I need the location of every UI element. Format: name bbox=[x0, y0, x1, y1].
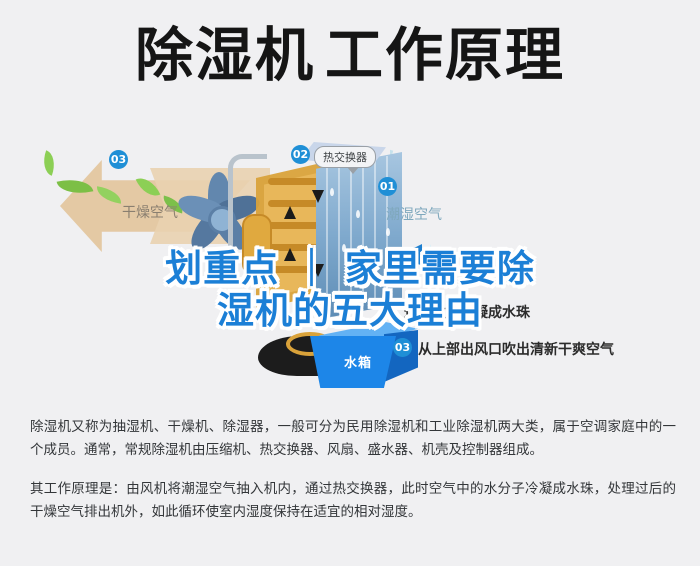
marker-badge-02: 02 bbox=[291, 145, 310, 164]
title-container: 除湿机工作原理 bbox=[135, 24, 565, 86]
fin-line bbox=[326, 166, 328, 306]
fin-line bbox=[362, 160, 364, 306]
intake-air-arrow-tail bbox=[418, 251, 448, 259]
title-part-two: 工作原理 bbox=[325, 21, 565, 89]
marker-label-dry-air: 干燥空气 bbox=[122, 202, 178, 222]
flow-arrow-up-icon bbox=[284, 248, 296, 261]
page-title: 除湿机工作原理 bbox=[0, 24, 700, 86]
body-paragraph-2: 其工作原理是：由风机将潮湿空气抽入机内，通过热交换器，此时空气中的水分子冷凝成水… bbox=[30, 478, 676, 524]
receiver-cylinder-icon bbox=[242, 214, 272, 276]
page-root: 除湿机工作原理 bbox=[0, 0, 700, 566]
body-paragraph-1: 除湿机又称为抽湿机、干燥机、除湿器，一般可分为民用除湿机和工业除湿机两大类，属于… bbox=[30, 416, 676, 462]
flow-arrow-down-icon bbox=[312, 264, 324, 277]
condensation-droplet bbox=[370, 264, 374, 272]
marker-badge-03: 03 bbox=[109, 150, 128, 169]
condensation-droplet bbox=[356, 210, 360, 218]
title-part-one: 除湿机 bbox=[135, 21, 315, 89]
dehumidifier-diagram: 水箱 03 干燥空气 02 热交换器 01 潮湿空气 02 过蒸发器冷凝成水珠 … bbox=[0, 120, 700, 410]
marker-label-humid-air: 潮湿空气 bbox=[386, 204, 442, 224]
coil-tube bbox=[268, 222, 320, 229]
flow-arrow-down-icon bbox=[312, 190, 324, 203]
condensation-droplet bbox=[386, 228, 390, 236]
fin-line bbox=[374, 158, 376, 306]
flow-arrow-up-icon bbox=[284, 206, 296, 219]
condensation-droplet bbox=[342, 244, 346, 252]
water-tank-label: 水箱 bbox=[328, 352, 388, 371]
leaf-icon bbox=[39, 150, 60, 175]
humid-air-swoosh-secondary-icon bbox=[430, 150, 640, 270]
water-tank: 水箱 bbox=[310, 322, 420, 392]
marker-label-heat-exchanger: 热交换器 bbox=[314, 146, 376, 168]
caption-text-02: 过蒸发器冷凝成水珠 bbox=[404, 302, 530, 322]
fin-line bbox=[350, 162, 352, 306]
marker-badge-01: 01 bbox=[378, 177, 397, 196]
coil-tube bbox=[268, 178, 320, 185]
fin-line bbox=[338, 164, 340, 306]
caption-text-03: 从上部出风口吹出清新干爽空气 bbox=[418, 339, 614, 359]
caption-badge-03: 03 bbox=[393, 338, 412, 357]
body-copy: 除湿机又称为抽湿机、干燥机、除湿器，一般可分为民用除湿机和工业除湿机两大类，属于… bbox=[30, 416, 676, 524]
condensation-droplet bbox=[330, 188, 334, 196]
